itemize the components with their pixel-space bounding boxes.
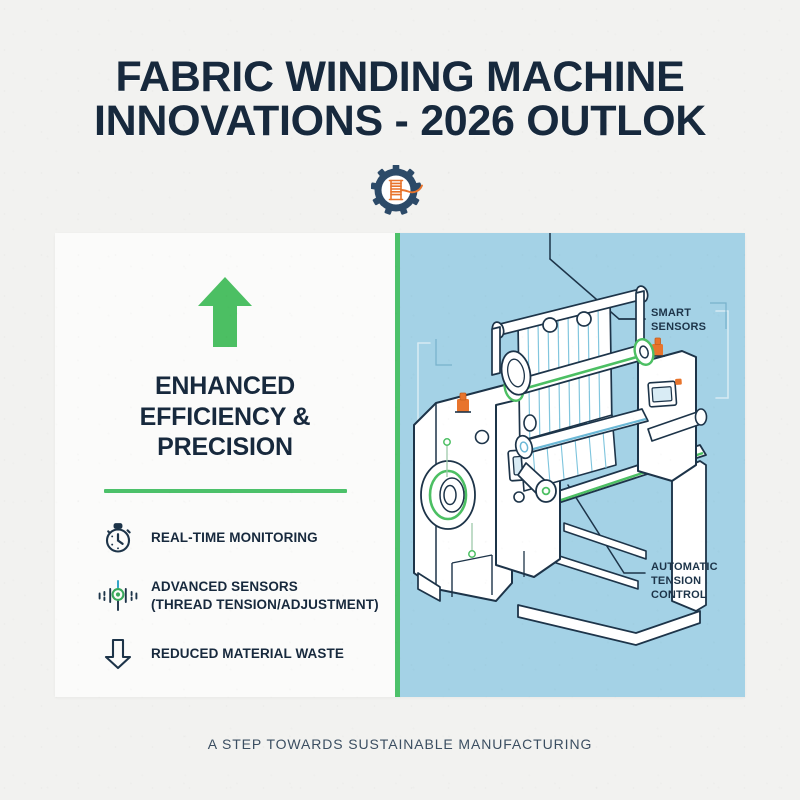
feature-1-line-1: REAL-TIME MONITORING (151, 529, 318, 546)
feature-list: REAL-TIME MONITORING (55, 515, 395, 677)
callout-smart-sensors: SMART SENSORS (651, 306, 706, 334)
sensor-signal-icon-wrap (95, 577, 141, 615)
feature-item-advanced-sensors[interactable]: ADVANCED SENSORS (THREAD TENSION/ADJUSTM… (95, 573, 395, 619)
headline-divider (104, 489, 347, 493)
page-title-line-2: INNOVATIONS - 2026 OUTLOK (60, 100, 740, 144)
page-title: FABRIC WINDING MACHINE INNOVATIONS - 202… (0, 56, 800, 144)
headline-line-3: PRECISION (83, 432, 367, 463)
arrow-down-outline-icon-wrap (95, 637, 141, 671)
callout-smart-line-2: SENSORS (651, 320, 706, 334)
feature-2-line-2: (THREAD TENSION/ADJUSTMENT) (151, 596, 379, 613)
right-panel: SMART SENSORS AUTOMATIC TENSION CONTROL (400, 233, 745, 697)
feature-2-line-1: ADVANCED SENSORS (151, 578, 379, 595)
sensor-signal-icon (97, 577, 139, 615)
logo-container (0, 165, 800, 217)
arrow-up-icon (196, 275, 254, 349)
stopwatch-icon (101, 521, 135, 555)
headline-line-1: ENHANCED (83, 371, 367, 402)
feature-item-reduced-material-waste[interactable]: REDUCED MATERIAL WASTE (95, 631, 395, 677)
content-card: ENHANCED EFFICIENCY & PRECISION (55, 233, 745, 697)
left-panel-headline: ENHANCED EFFICIENCY & PRECISION (55, 371, 395, 463)
feature-3-line-1: REDUCED MATERIAL WASTE (151, 645, 344, 662)
arrow-down-outline-icon (103, 637, 133, 671)
callout-smart-line-1: SMART (651, 306, 706, 320)
footer-tagline: A STEP TOWARDS SUSTAINABLE MANUFACTURING (0, 736, 800, 752)
arrow-up-container (55, 275, 395, 349)
page-title-line-1: FABRIC WINDING MACHINE (60, 56, 740, 100)
callout-automatic-tension-control: AUTOMATIC TENSION CONTROL (651, 560, 718, 602)
gear-thread-spool-logo-icon (371, 165, 429, 217)
feature-label-advanced-sensors: ADVANCED SENSORS (THREAD TENSION/ADJUSTM… (151, 578, 379, 613)
left-panel: ENHANCED EFFICIENCY & PRECISION (55, 233, 395, 697)
feature-label-reduced-material-waste: REDUCED MATERIAL WASTE (151, 645, 344, 662)
callout-tension-line-1: AUTOMATIC (651, 560, 718, 574)
callout-tension-line-2: TENSION (651, 574, 718, 588)
feature-item-real-time-monitoring[interactable]: REAL-TIME MONITORING (95, 515, 395, 561)
callout-tension-line-3: CONTROL (651, 588, 718, 602)
stopwatch-icon-wrap (95, 521, 141, 555)
headline-line-2: EFFICIENCY & (83, 402, 367, 433)
page-header: FABRIC WINDING MACHINE INNOVATIONS - 202… (0, 56, 800, 144)
fabric-winding-machine-illustration (400, 233, 745, 697)
feature-label-real-time-monitoring: REAL-TIME MONITORING (151, 529, 318, 546)
